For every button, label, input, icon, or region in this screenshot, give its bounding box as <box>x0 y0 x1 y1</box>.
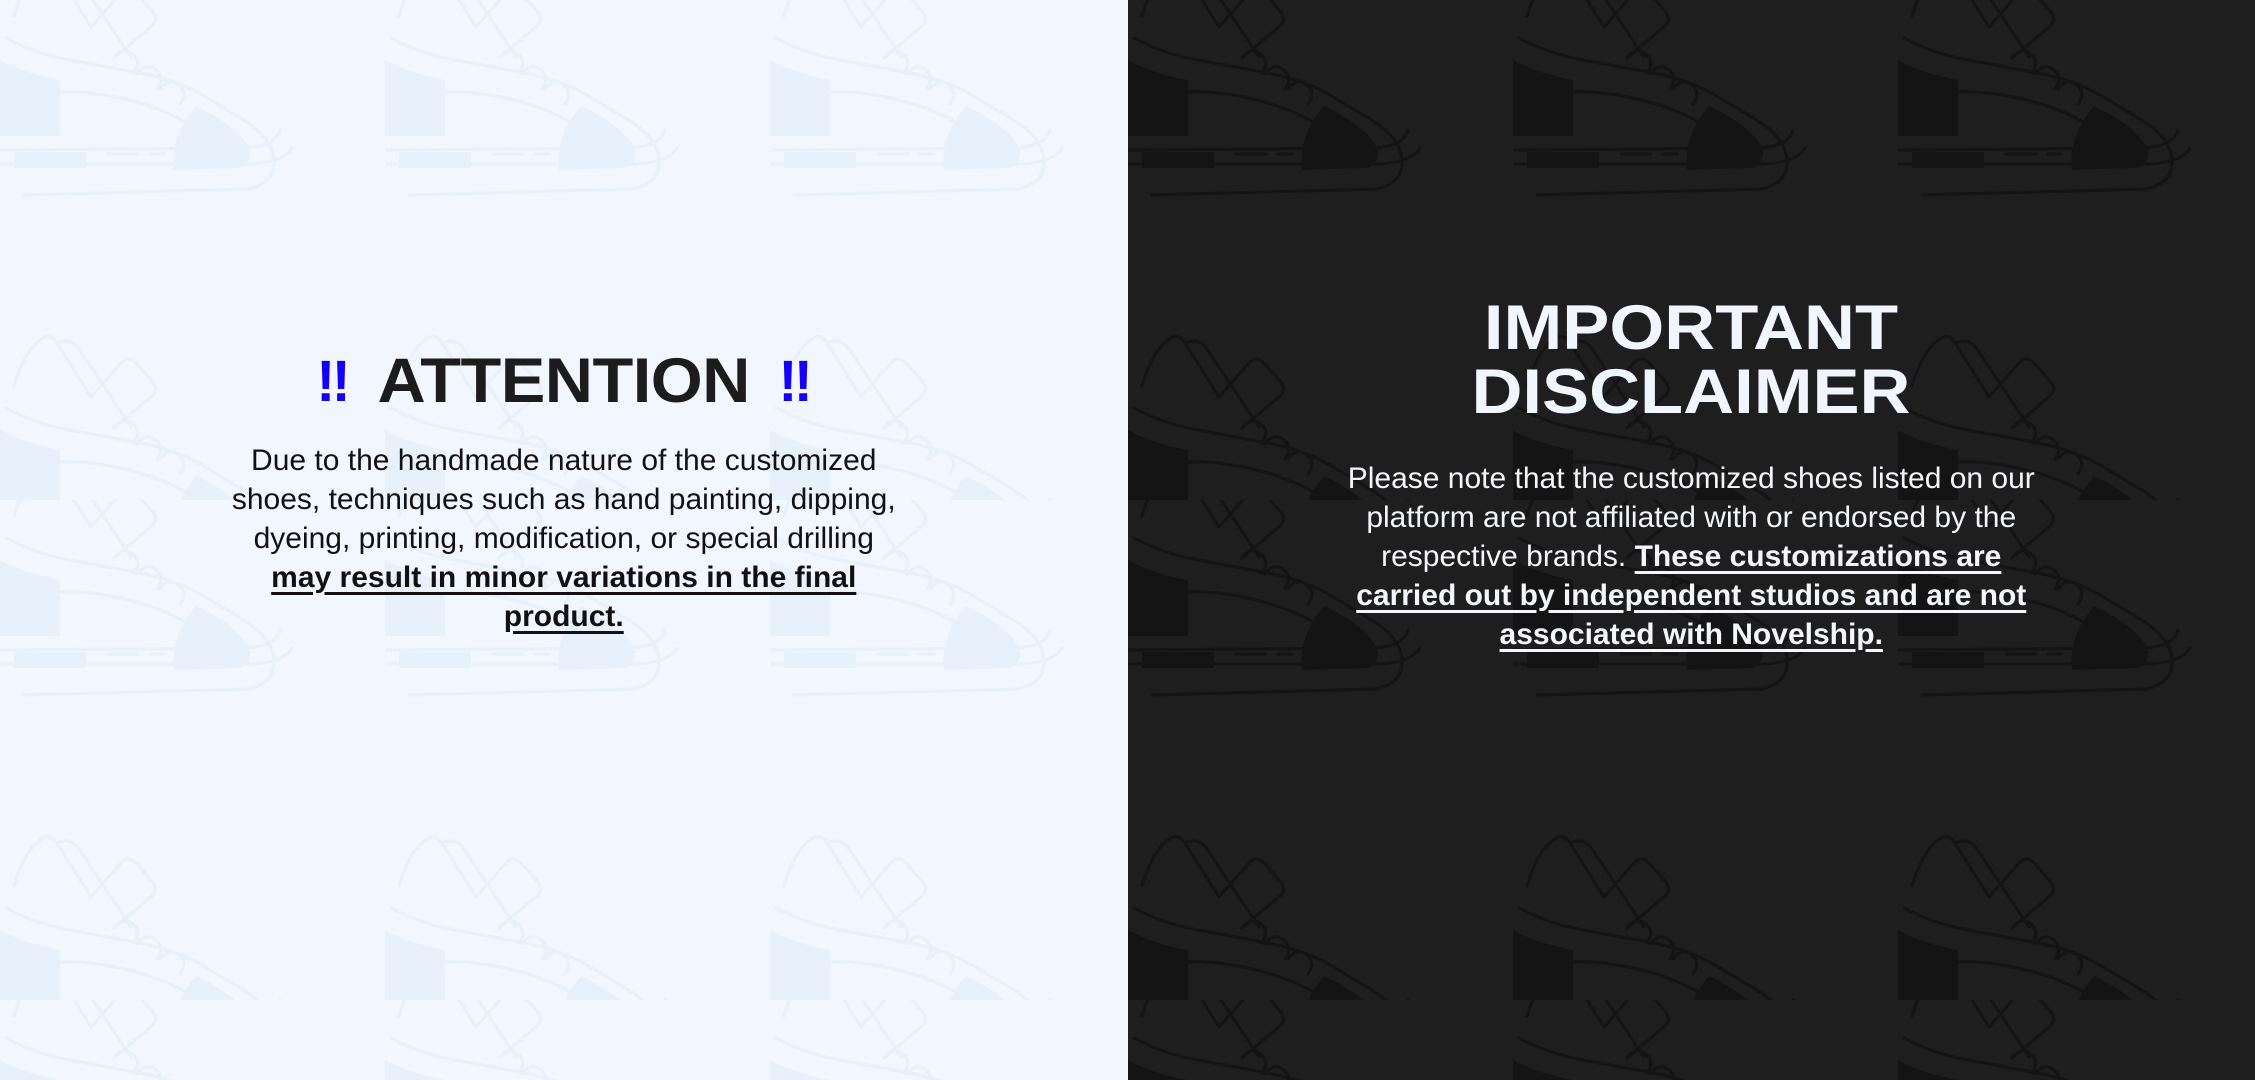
disclaimer-content: IMPORTANT DISCLAIMER Please note that th… <box>1128 0 2255 654</box>
attention-content: ‼ ATTENTION ‼ Due to the handmade nature… <box>0 0 1128 636</box>
attention-heading-text: ATTENTION <box>378 350 750 413</box>
disclaimer-heading-line2: DISCLAIMER <box>1472 360 1911 424</box>
attention-panel: ‼ ATTENTION ‼ Due to the handmade nature… <box>0 0 1128 1080</box>
attention-body-normal: Due to the handmade nature of the custom… <box>232 444 896 555</box>
attention-body: Due to the handmade nature of the custom… <box>224 441 904 636</box>
double-exclamation-left-icon: ‼ <box>316 353 348 411</box>
disclaimer-heading: IMPORTANT DISCLAIMER <box>1472 296 1911 425</box>
disclaimer-panel: IMPORTANT DISCLAIMER Please note that th… <box>1128 0 2255 1080</box>
disclaimer-heading-line1: IMPORTANT <box>1472 296 1911 360</box>
disclaimer-body: Please note that the customized shoes li… <box>1341 459 2041 654</box>
double-exclamation-right-icon: ‼ <box>779 353 811 411</box>
attention-heading: ‼ ATTENTION ‼ <box>315 350 813 413</box>
attention-body-emphasis: may result in minor variations in the fi… <box>271 561 856 633</box>
